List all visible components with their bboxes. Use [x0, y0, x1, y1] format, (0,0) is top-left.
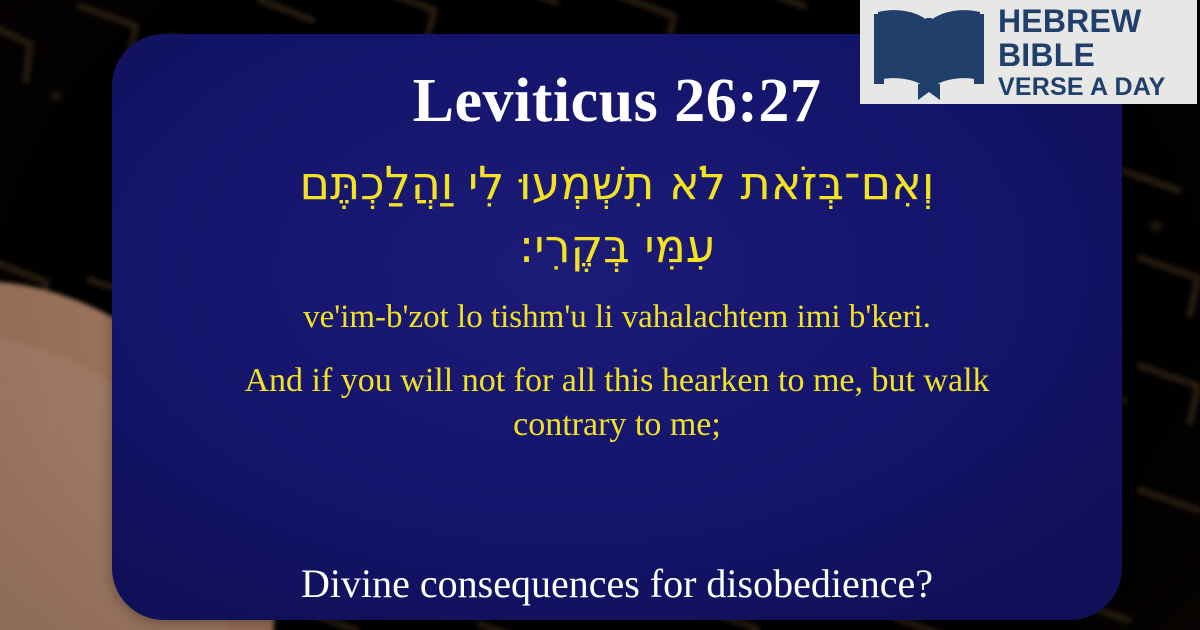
verse-card: Leviticus 26:27 וְאִם־בְּזֹאת לֹא תִשְׁמ… [112, 34, 1122, 620]
hebrew-verse-line-2: עִמִּי בְּקֶרִי: [177, 215, 1057, 278]
verse-image-canvas: Leviticus 26:27 וְאִם־בְּזֹאת לֹא תִשְׁמ… [0, 0, 1200, 630]
logo-hebrew-word: תורה [870, 26, 988, 61]
brand-line-hebrew: HEBREW [998, 5, 1189, 37]
reflection-question-text: Divine consequences for disobedience? [112, 562, 1122, 606]
hebrew-verse-line-1: וְאִם־בְּזֹאת לֹא תִשְׁמְעוּ לִי וַהֲלַכ… [177, 152, 1057, 215]
brand-logo-wordmark: HEBREW BIBLE VERSE A DAY [998, 5, 1189, 100]
brand-line-verse-a-day: VERSE A DAY [998, 75, 1189, 100]
open-book-icon: תורה [870, 4, 988, 100]
hebrew-verse-text: וְאִם־בְּזֹאת לֹא תִשְׁמְעוּ לִי וַהֲלַכ… [177, 152, 1057, 279]
transliteration-text: ve'im-b'zot lo tishm'u li vahalachtem im… [222, 297, 1012, 337]
english-translation-text: And if you will not for all this hearken… [222, 359, 1012, 446]
brand-line-bible: BIBLE [998, 39, 1189, 71]
verse-reference-title: Leviticus 26:27 [413, 70, 822, 132]
brand-logo-badge[interactable]: תורה HEBREW BIBLE VERSE A DAY [860, 0, 1197, 104]
